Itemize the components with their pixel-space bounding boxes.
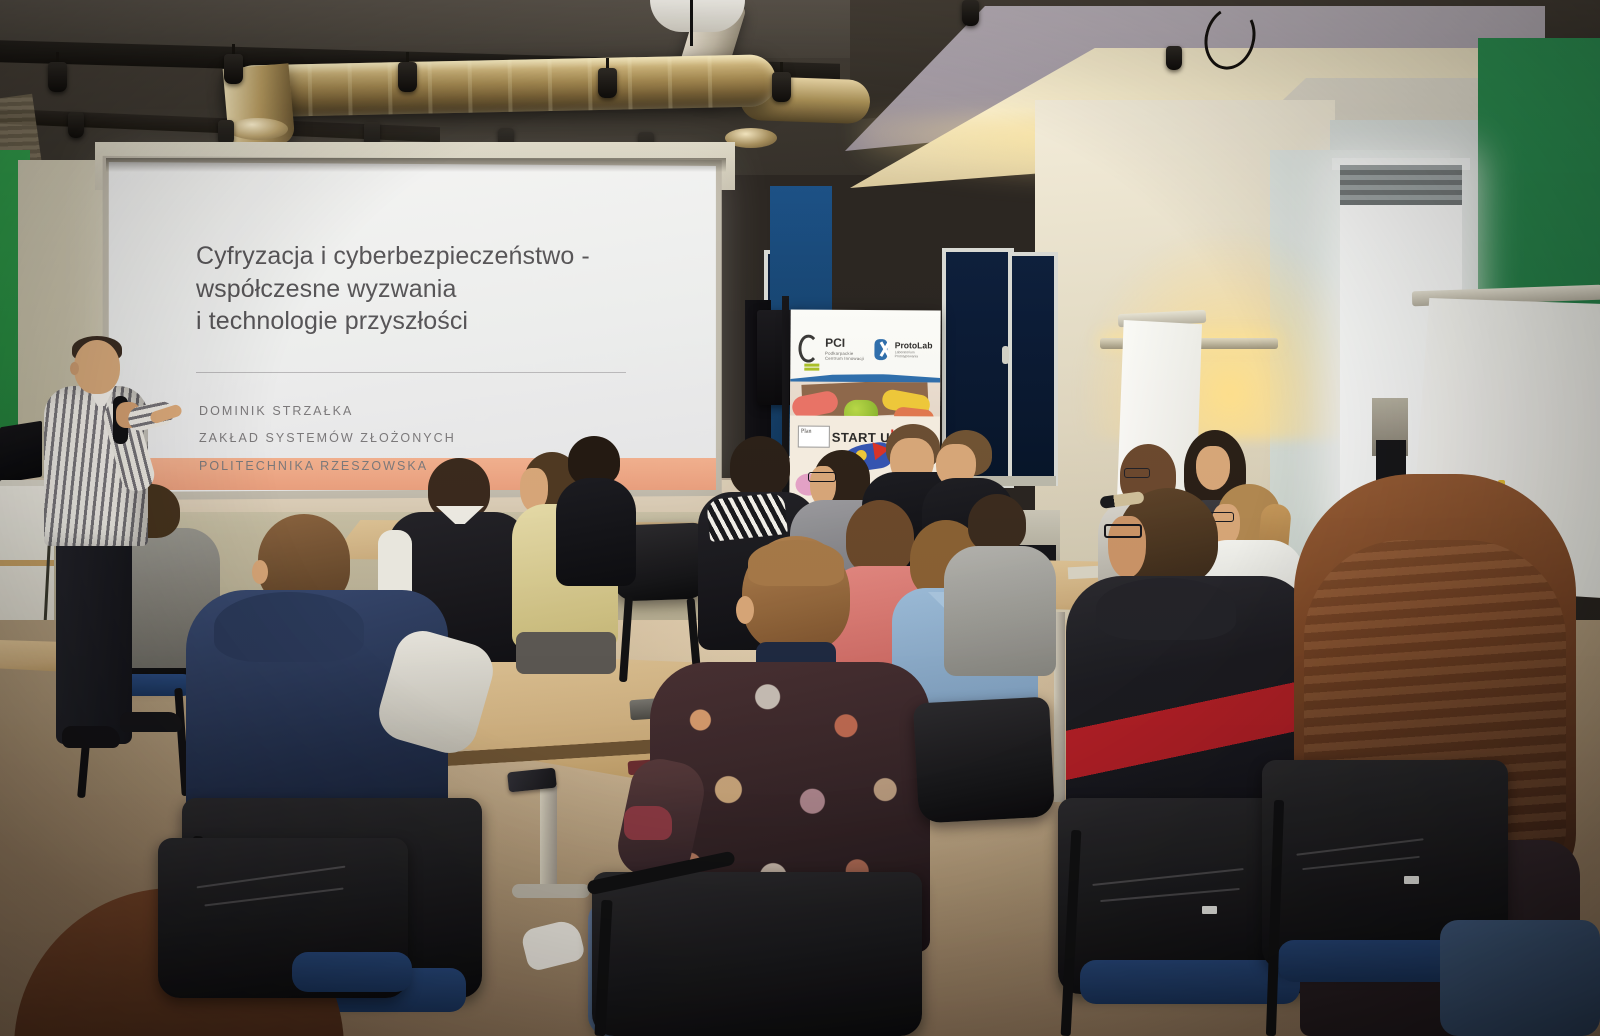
slide-title-line-3: i technologie przyszłości: [196, 305, 666, 338]
track-spotlight-icon: [598, 68, 617, 98]
track-spotlight-icon: [1166, 46, 1182, 70]
pendant-cord: [690, 0, 693, 46]
lecture-room-photo: Cyfryzacja i cyberbezpieczeństwo - współ…: [0, 0, 1600, 1036]
person-jeans-long-woman: [1440, 920, 1600, 1036]
slide-title-line-2: współczesne wyzwania: [196, 273, 666, 306]
person-face-dark-hair-woman: [1196, 446, 1230, 490]
person-hair-fringe-paisley: [748, 540, 844, 586]
track-spotlight-icon: [962, 0, 979, 26]
track-spotlight-icon: [48, 62, 67, 92]
person-ear-navy-hoodie: [252, 560, 268, 584]
chair-label: [1404, 876, 1419, 884]
hoodie-hood: [214, 592, 364, 662]
person-ear-paisley: [736, 596, 754, 624]
chair-seat-bottom-left: [292, 952, 412, 992]
glasses-icon: [808, 472, 836, 482]
slide-department: ZAKŁAD SYSTEMÓW ZŁOŻONYCH: [199, 425, 619, 452]
person-collar-stripes: [706, 492, 788, 542]
artwork-plan-label: Plan: [801, 429, 812, 435]
chair-paisley[interactable]: [592, 872, 922, 1036]
protolab-logo-icon: [875, 339, 888, 360]
presenter-legs: [56, 534, 132, 744]
person-head-striped-collar: [730, 436, 790, 496]
window-blinds-right: [1008, 252, 1058, 486]
table-leg-foreground: [540, 786, 557, 898]
pci-logo-subtitle: Podkarpackie Centrum Innowacji: [825, 351, 868, 361]
slide-divider: [196, 372, 626, 373]
hoodie-hood-red-stripe: [1096, 578, 1236, 640]
pci-logo-icon: [798, 335, 818, 363]
protolab-logo-text: ProtoLab: [895, 340, 933, 350]
shoe-white: [624, 806, 672, 840]
person-head-grey-hoodie: [968, 494, 1026, 552]
presenter-ear: [70, 362, 79, 375]
protolab-logo-subtitle: Laboratorium Prototypowania: [895, 350, 933, 358]
presenter-shoe-right: [120, 712, 182, 732]
glasses-icon: [1124, 468, 1150, 478]
track-spotlight-icon: [224, 54, 243, 84]
person-body-grey-hoodie: [944, 546, 1056, 676]
person-head-pink-sweater: [846, 500, 914, 574]
slide-author: DOMINIK STRZAŁKA: [199, 398, 619, 425]
slide-title-line-1: Cyfryzacja i cyberbezpieczeństwo -: [196, 240, 666, 273]
track-spotlight-icon: [68, 112, 84, 138]
chair-label: [1202, 906, 1217, 914]
screen-top-shadow: [106, 158, 726, 172]
chair-empty-right-mid[interactable]: [913, 697, 1055, 824]
table-foot: [512, 884, 590, 898]
slide-title: Cyfryzacja i cyberbezpieczeństwo - współ…: [196, 240, 666, 338]
presenter-head: [74, 340, 120, 394]
track-spotlight-icon: [772, 72, 791, 102]
person-body-black-turtleneck: [556, 478, 636, 586]
banner-logo-row: PCI Podkarpackie Centrum Innowacji Proto…: [798, 332, 932, 367]
laptop[interactable]: [0, 421, 42, 484]
pci-logo-text: PCI: [825, 337, 868, 349]
duct-outlet-left: [228, 118, 288, 140]
window-handle[interactable]: [1002, 346, 1009, 364]
presenter-shoe-left: [62, 726, 120, 748]
person-legs-cream-sweater: [516, 632, 616, 674]
glasses-icon: [1104, 524, 1142, 538]
window-roller-blind: [1340, 165, 1462, 205]
track-spotlight-icon: [398, 62, 417, 92]
